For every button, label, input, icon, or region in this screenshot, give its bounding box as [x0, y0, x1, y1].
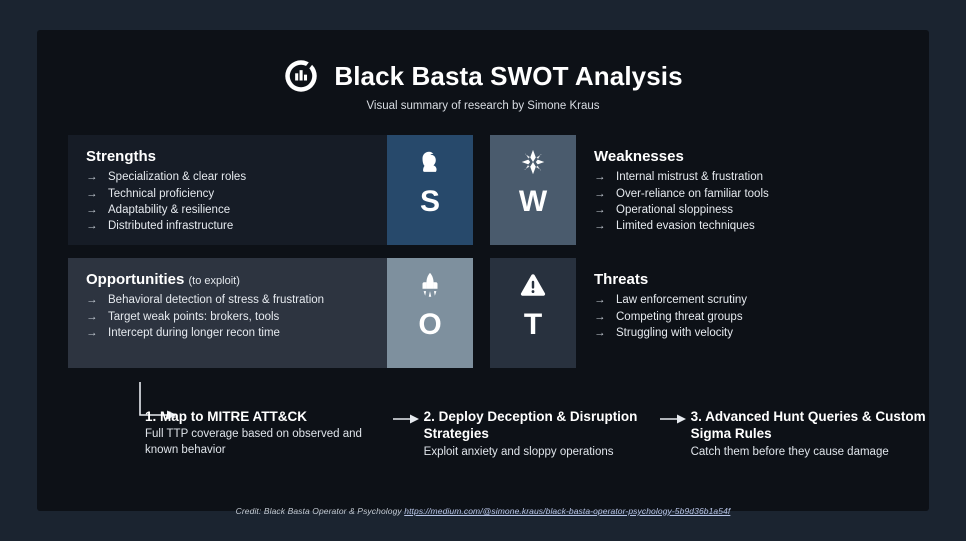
list-item: →Distributed infrastructure: [86, 218, 371, 234]
header: Black Basta SWOT Analysis Visual summary…: [37, 58, 929, 112]
bullet-text: Competing threat groups: [616, 309, 879, 325]
opportunities-title: Opportunities (to exploit): [86, 271, 371, 288]
credit-line: Credit: Black Basta Operator & Psycholog…: [37, 506, 929, 516]
step-2-title: 2. Deploy Deception & Disruption Strateg…: [424, 408, 657, 443]
threats-text-pane: Threats →Law enforcement scrutiny →Compe…: [576, 258, 895, 368]
arrow-marker: →: [86, 325, 99, 341]
list-item: →Target weak points: brokers, tools: [86, 309, 371, 325]
quadrant-threats: T Threats →Law enforcement scrutiny →Com…: [490, 258, 895, 368]
arrow-right-icon: [393, 413, 421, 425]
threats-letter: T: [524, 310, 542, 340]
strengths-letter: S: [420, 187, 440, 217]
arrow-marker: →: [594, 292, 607, 308]
list-item: →Specialization & clear roles: [86, 169, 371, 185]
warning-triangle-icon: [518, 270, 548, 300]
black-basta-circular-bars-logo-icon: [283, 58, 319, 94]
credit-prefix: Credit: Black Basta Operator & Psycholog…: [236, 506, 402, 516]
strengths-bullets: →Specialization & clear roles →Technical…: [86, 169, 371, 234]
credit-link[interactable]: https://medium.com/@simone.kraus/black-b…: [404, 506, 730, 516]
bullet-text: Over-reliance on familiar tools: [616, 186, 879, 202]
arrow-marker: →: [86, 169, 99, 185]
action-steps: 1. Map to MITRE ATT&CK Full TTP coverage…: [145, 408, 945, 460]
threats-icon-tile: T: [490, 258, 576, 368]
arrow-right-icon: [660, 413, 688, 425]
step-2-desc: Exploit anxiety and sloppy operations: [424, 445, 657, 460]
step-3-desc: Catch them before they cause damage: [691, 445, 945, 460]
arrow-marker: →: [86, 218, 99, 234]
quadrant-opportunities: Opportunities (to exploit) →Behavioral d…: [68, 258, 473, 368]
bullet-text: Intercept during longer recon time: [108, 325, 371, 341]
opportunities-icon-tile: O: [387, 258, 473, 368]
arrow-marker: →: [594, 309, 607, 325]
bullet-text: Distributed infrastructure: [108, 218, 371, 234]
strengths-title: Strengths: [86, 148, 371, 165]
swot-grid: Strengths →Specialization & clear roles …: [68, 135, 898, 368]
arrow-marker: →: [594, 169, 607, 185]
weaknesses-icon-tile: W: [490, 135, 576, 245]
rocket-launch-icon: [415, 270, 445, 300]
weaknesses-letter: W: [519, 187, 547, 217]
step-arrow-2-to-3: [657, 408, 691, 425]
opportunities-bullets: →Behavioral detection of stress & frustr…: [86, 292, 371, 341]
weaknesses-text-pane: Weaknesses →Internal mistrust & frustrat…: [576, 135, 895, 245]
bullet-text: Technical proficiency: [108, 186, 371, 202]
arrow-marker: →: [86, 202, 99, 218]
threats-title: Threats: [594, 271, 879, 288]
step-arrow-1-to-2: [390, 408, 424, 425]
bullet-text: Adaptability & resilience: [108, 202, 371, 218]
bullet-text: Law enforcement scrutiny: [616, 292, 879, 308]
weaknesses-title: Weaknesses: [594, 148, 879, 165]
list-item: →Internal mistrust & frustration: [594, 169, 879, 185]
arrow-marker: →: [86, 309, 99, 325]
opportunities-letter: O: [418, 310, 441, 340]
list-item: →Adaptability & resilience: [86, 202, 371, 218]
swot-row-top: Strengths →Specialization & clear roles …: [68, 135, 898, 245]
step-3: 3. Advanced Hunt Queries & Custom Sigma …: [691, 408, 945, 460]
step-1-title: 1. Map to MITRE ATT&CK: [145, 408, 390, 425]
arrow-marker: →: [594, 202, 607, 218]
step-1: 1. Map to MITRE ATT&CK Full TTP coverage…: [145, 408, 390, 458]
list-item: →Competing threat groups: [594, 309, 879, 325]
step-3-title: 3. Advanced Hunt Queries & Custom Sigma …: [691, 408, 945, 443]
step-2: 2. Deploy Deception & Disruption Strateg…: [424, 408, 657, 460]
bullet-text: Operational sloppiness: [616, 202, 879, 218]
list-item: →Struggling with velocity: [594, 325, 879, 341]
arrow-marker: →: [594, 325, 607, 341]
opportunities-text-pane: Opportunities (to exploit) →Behavioral d…: [68, 258, 387, 368]
list-item: →Technical proficiency: [86, 186, 371, 202]
opportunities-note: (to exploit): [189, 275, 240, 287]
list-item: →Limited evasion techniques: [594, 218, 879, 234]
bullet-text: Struggling with velocity: [616, 325, 879, 341]
swot-infographic: Black Basta SWOT Analysis Visual summary…: [0, 0, 966, 541]
flexed-biceps-icon: [415, 147, 445, 177]
list-item: →Operational sloppiness: [594, 202, 879, 218]
bullet-text: Internal mistrust & frustration: [616, 169, 879, 185]
cracked-burst-icon: [518, 147, 548, 177]
quadrant-weaknesses: W Weaknesses →Internal mistrust & frustr…: [490, 135, 895, 245]
weaknesses-bullets: →Internal mistrust & frustration →Over-r…: [594, 169, 879, 234]
arrow-marker: →: [86, 186, 99, 202]
list-item: →Behavioral detection of stress & frustr…: [86, 292, 371, 308]
arrow-marker: →: [594, 186, 607, 202]
arrow-marker: →: [86, 292, 99, 308]
opportunities-title-text: Opportunities: [86, 271, 184, 288]
title-row: Black Basta SWOT Analysis: [283, 58, 682, 94]
bullet-text: Specialization & clear roles: [108, 169, 371, 185]
page-subtitle: Visual summary of research by Simone Kra…: [366, 100, 599, 112]
bullet-text: Limited evasion techniques: [616, 218, 879, 234]
step-1-desc: Full TTP coverage based on observed and …: [145, 427, 390, 458]
quadrant-strengths: Strengths →Specialization & clear roles …: [68, 135, 473, 245]
bullet-text: Target weak points: brokers, tools: [108, 309, 371, 325]
threats-bullets: →Law enforcement scrutiny →Competing thr…: [594, 292, 879, 341]
page-title: Black Basta SWOT Analysis: [334, 61, 682, 92]
arrow-marker: →: [594, 218, 607, 234]
strengths-icon-tile: S: [387, 135, 473, 245]
bullet-text: Behavioral detection of stress & frustra…: [108, 292, 371, 308]
swot-row-bottom: Opportunities (to exploit) →Behavioral d…: [68, 258, 898, 368]
list-item: →Law enforcement scrutiny: [594, 292, 879, 308]
list-item: →Over-reliance on familiar tools: [594, 186, 879, 202]
list-item: →Intercept during longer recon time: [86, 325, 371, 341]
infographic-card: Black Basta SWOT Analysis Visual summary…: [37, 30, 929, 511]
strengths-text-pane: Strengths →Specialization & clear roles …: [68, 135, 387, 245]
